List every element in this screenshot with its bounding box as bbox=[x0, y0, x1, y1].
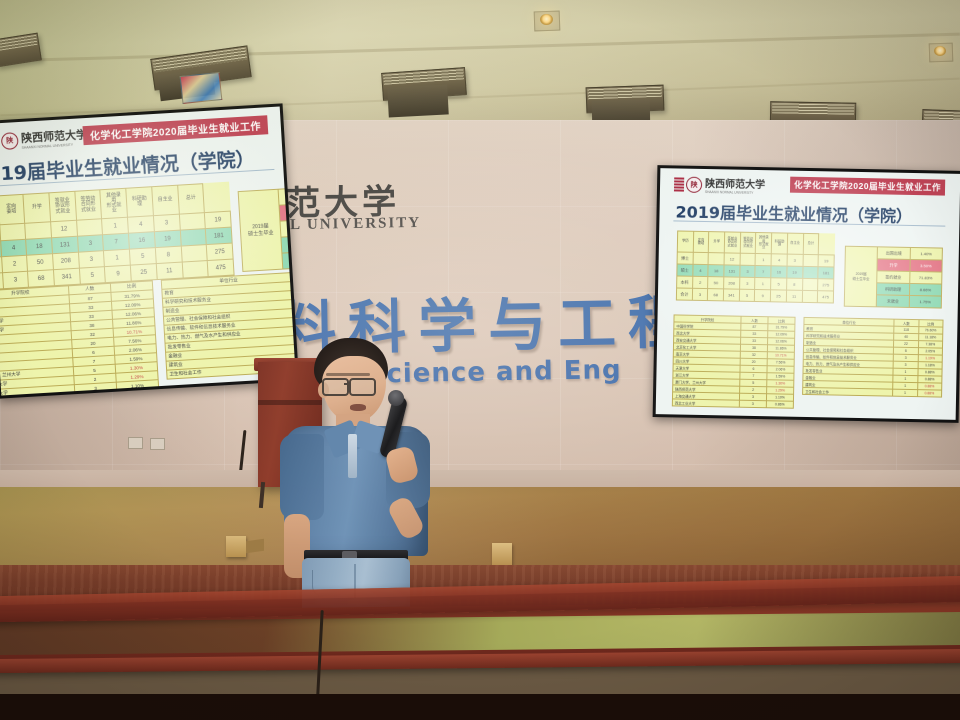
table-cell: 3 bbox=[153, 214, 180, 231]
table-cell: 181 bbox=[818, 267, 834, 279]
table-cell: 16 bbox=[129, 232, 156, 249]
spot-light-icon bbox=[934, 46, 946, 56]
table-cell bbox=[803, 254, 819, 266]
table-cell: 3 bbox=[692, 288, 708, 300]
lecture-hall-photo: 范大学 L UNIVERSITY 料科学与工程学 rials Science a… bbox=[0, 0, 960, 720]
table-cell: 131 bbox=[52, 236, 79, 253]
left-projection-screen-frame: 陕 陕西师范大学 SHAANXI NORMAL UNIVERSITY 化学化工学… bbox=[0, 103, 299, 398]
table-header-cell: 签劳动合同形式就业 bbox=[75, 190, 102, 220]
table-header-cell: 其他录用形式就业 bbox=[756, 232, 772, 253]
table-cell bbox=[179, 213, 206, 230]
table-header-cell: 总计 bbox=[803, 233, 819, 254]
table-cell-count: 1 bbox=[893, 389, 918, 396]
floor-block bbox=[492, 543, 512, 566]
table-cell bbox=[180, 229, 207, 246]
table-cell: 181 bbox=[205, 227, 232, 245]
table-cell: 19 bbox=[818, 255, 834, 267]
slide-logo: 陕 陕西师范大学 SHAANXI NORMAL UNIVERSITY bbox=[0, 126, 88, 152]
table-cell bbox=[802, 278, 818, 290]
wall-socket[interactable] bbox=[128, 437, 143, 449]
table-cell: 68 bbox=[28, 270, 55, 287]
industry-distribution-table: 单位行业人数比例教育11876.60%科学研究和技术服务业4011.18%制造业… bbox=[802, 317, 943, 398]
summary-value: 3.50% bbox=[910, 259, 943, 272]
table-cell: 11 bbox=[156, 262, 183, 279]
table-header-cell: 定向委培 bbox=[693, 231, 709, 252]
summary-label: 2019届硕士生毕业 bbox=[844, 246, 877, 307]
table-header-cell: 升学 bbox=[23, 193, 50, 223]
table-header-cell: 签劳动合同形式就业 bbox=[740, 232, 756, 253]
right-projection-screen: 陕 陕西师范大学 SHAANXI NORMAL UNIVERSITY 化学化工学… bbox=[656, 168, 960, 420]
table-cell: 4 bbox=[0, 239, 27, 256]
slide-banner-title: 化学化工学院2020届毕业生就业工作 bbox=[82, 115, 268, 145]
table-cell: 7 bbox=[103, 233, 130, 250]
summary-label: 2019届硕士生毕业 bbox=[238, 189, 283, 271]
glasses-icon bbox=[349, 378, 376, 396]
table-row: 2019届硕士生毕业出国出境1.40% bbox=[845, 246, 942, 260]
table-row: 合计368341592511475 bbox=[676, 288, 833, 303]
table-cell: 3 bbox=[78, 251, 105, 268]
speaker-brow bbox=[326, 373, 370, 376]
table-cell: 3 bbox=[787, 254, 803, 266]
summary-table: 2019届硕士生毕业出国出境1.40%升学3.50%签约就业71.83%科研助理… bbox=[238, 184, 296, 272]
table-cell bbox=[802, 290, 818, 302]
table-cell: 5 bbox=[771, 278, 787, 290]
summary-value: 8.66% bbox=[909, 283, 942, 296]
table-cell: 208 bbox=[724, 277, 740, 289]
table-cell: 341 bbox=[723, 289, 739, 301]
table-cell: 475 bbox=[207, 259, 234, 277]
summary-name: 未就业 bbox=[877, 295, 910, 308]
school-distribution-table: 升学院校人数比例中国科学院8731.79%西北大学3312.09%西安交通大学3… bbox=[0, 280, 160, 395]
table-cell: 1 bbox=[104, 249, 131, 266]
table-cell bbox=[25, 222, 52, 239]
row-label: 硕士 bbox=[677, 264, 693, 276]
summary-value: 1.75% bbox=[909, 295, 942, 308]
table-cell-percent: 1.10% bbox=[116, 380, 158, 391]
table-cell: 4 bbox=[771, 254, 787, 266]
row-label: 西北工业大学 bbox=[672, 399, 739, 407]
speaker-placket bbox=[348, 434, 357, 478]
slide-logo: 陕 陕西师范大学 SHAANXI NORMAL UNIVERSITY bbox=[674, 174, 765, 195]
table-cell: 16 bbox=[771, 266, 787, 278]
table-cell: 208 bbox=[53, 252, 80, 269]
wall-socket[interactable] bbox=[150, 438, 165, 450]
table-row: 2019届硕士生毕业出国出境1.40% bbox=[238, 184, 296, 207]
speaker bbox=[276, 338, 448, 620]
table-cell: 2 bbox=[1, 255, 28, 272]
table-cell: 9 bbox=[755, 289, 771, 301]
summary-name: 升学 bbox=[877, 259, 910, 272]
table-cell-percent: 0.88% bbox=[917, 390, 942, 397]
table-cell: 475 bbox=[818, 291, 834, 303]
table-cell: 18 bbox=[708, 265, 724, 277]
table-cell: 3 bbox=[2, 271, 29, 288]
table-cell: 1 bbox=[102, 217, 129, 234]
table-header-row: 学历定向委培升学签就业协议形式就业签劳动合同形式就业其他录用形式就业科研助理自主… bbox=[677, 231, 834, 255]
table-cell: 12 bbox=[51, 220, 78, 237]
table-cell: 275 bbox=[206, 243, 233, 261]
ceiling-poster bbox=[180, 72, 223, 104]
table-cell bbox=[0, 223, 26, 240]
summary-name: 科研助理 bbox=[877, 283, 910, 296]
table-cell: 25 bbox=[130, 264, 157, 281]
slide-logo-zh: 陕西师范大学 bbox=[705, 175, 765, 191]
table-row: 西北工业大学30.86% bbox=[672, 399, 793, 408]
table-row: 卫生和社会工作10.88% bbox=[803, 387, 942, 397]
speaker-sleeve bbox=[280, 434, 324, 520]
table-cell bbox=[181, 245, 208, 262]
glasses-bridge bbox=[344, 383, 351, 385]
table-cell-count: 3 bbox=[739, 400, 766, 408]
table-cell: 5 bbox=[739, 289, 755, 301]
glasses-icon bbox=[322, 378, 349, 396]
row-label: 合计 bbox=[676, 288, 692, 300]
table-cell bbox=[76, 219, 103, 236]
summary-table: 2019届硕士生毕业出国出境1.40%升学3.50%签约就业71.83%科研助理… bbox=[844, 246, 943, 309]
table-cell-count: 3 bbox=[74, 382, 116, 393]
main-table: 学历定向委培升学签就业协议形式就业签劳动合同形式就业其他录用形式就业科研助理自主… bbox=[0, 182, 235, 291]
table-cell: 3 bbox=[77, 235, 104, 252]
table-cell: 1 bbox=[755, 277, 771, 289]
table-cell: 19 bbox=[787, 266, 803, 278]
table-cell-percent: 0.86% bbox=[766, 401, 793, 409]
left-projection-screen: 陕 陕西师范大学 SHAANXI NORMAL UNIVERSITY 化学化工学… bbox=[0, 106, 296, 395]
table-cell bbox=[708, 253, 724, 265]
summary-value: 1.40% bbox=[910, 247, 943, 260]
speaker-mouth bbox=[350, 404, 366, 411]
table-cell: 5 bbox=[79, 267, 106, 284]
table-cell: 18 bbox=[26, 238, 53, 255]
ceiling-vent-body bbox=[387, 84, 448, 117]
table-header-cell: 总计 bbox=[177, 184, 204, 214]
summary-name: 出国出境 bbox=[878, 247, 911, 260]
table-cell: 3 bbox=[739, 277, 755, 289]
table-cell bbox=[182, 261, 209, 278]
table-cell: 19 bbox=[205, 211, 232, 229]
table-header-cell: 定向委培 bbox=[0, 194, 25, 224]
table-cell: 50 bbox=[708, 277, 724, 289]
table-cell bbox=[693, 252, 709, 264]
table-header-cell: 学历 bbox=[677, 231, 693, 252]
row-label: 本科 bbox=[677, 276, 693, 288]
school-distribution-table: 升学院校人数比例中国科学院8731.79%西北大学3312.09%西安交通大学3… bbox=[672, 314, 796, 408]
main-table: 学历定向委培升学签就业协议形式就业签劳动合同形式就业其他录用形式就业科研助理自主… bbox=[676, 230, 835, 303]
table-cell: 19 bbox=[154, 230, 181, 247]
slide-banner-title: 化学化工学院2020届毕业生就业工作 bbox=[790, 177, 945, 196]
table-header-cell: 自主业 bbox=[787, 233, 803, 254]
table-cell: 2 bbox=[692, 276, 708, 288]
table-cell: 3 bbox=[740, 265, 756, 277]
table-header-cell: 自主业 bbox=[152, 185, 179, 215]
table-header-cell: 科研助理 bbox=[771, 233, 787, 254]
table-header-cell: 其他录用形式就业 bbox=[100, 188, 127, 218]
table-cell: 4 bbox=[128, 216, 155, 233]
university-seal-icon: 陕 bbox=[1, 132, 19, 150]
table-header-cell: 签就业协议形式就业 bbox=[724, 232, 740, 253]
right-projection-screen-frame: 陕 陕西师范大学 SHAANXI NORMAL UNIVERSITY 化学化工学… bbox=[653, 165, 960, 423]
floor-block bbox=[226, 536, 246, 557]
table-header-cell: 签就业协议形式就业 bbox=[49, 191, 76, 221]
table-cell: 4 bbox=[693, 264, 709, 276]
row-label: 卫生和社会工作 bbox=[803, 387, 893, 396]
summary-name: 签约就业 bbox=[877, 271, 910, 284]
table-cell: 68 bbox=[708, 289, 724, 301]
table-cell: 8 bbox=[155, 246, 182, 263]
table-cell: 341 bbox=[54, 268, 81, 285]
summary-value: 71.83% bbox=[909, 271, 942, 284]
slide-title: 2019届毕业生就业情况（学院） bbox=[0, 144, 255, 188]
university-seal-icon: 陕 bbox=[686, 176, 702, 192]
under-desk-shadow bbox=[0, 694, 960, 720]
table-cell: 5 bbox=[129, 248, 156, 265]
table-cell: 12 bbox=[724, 253, 740, 265]
row-label: 博士 bbox=[677, 252, 693, 264]
floor-block-shadow bbox=[246, 539, 264, 554]
table-cell: 11 bbox=[786, 290, 802, 302]
spot-light-icon bbox=[540, 14, 553, 25]
table-cell bbox=[740, 253, 756, 265]
table-header-cell: 升学 bbox=[709, 232, 725, 253]
table-cell: 50 bbox=[27, 254, 54, 271]
table-cell: 275 bbox=[818, 279, 834, 291]
table-cell: 8 bbox=[786, 278, 802, 290]
logo-bars-icon bbox=[674, 177, 684, 191]
table-cell: 25 bbox=[770, 290, 786, 302]
table-cell: 7 bbox=[755, 265, 771, 277]
table-cell: 9 bbox=[105, 265, 132, 282]
table-cell bbox=[802, 266, 818, 278]
table-header-cell: 科研助理 bbox=[126, 187, 153, 217]
table-cell: 131 bbox=[724, 265, 740, 277]
table-cell: 1 bbox=[755, 253, 771, 265]
